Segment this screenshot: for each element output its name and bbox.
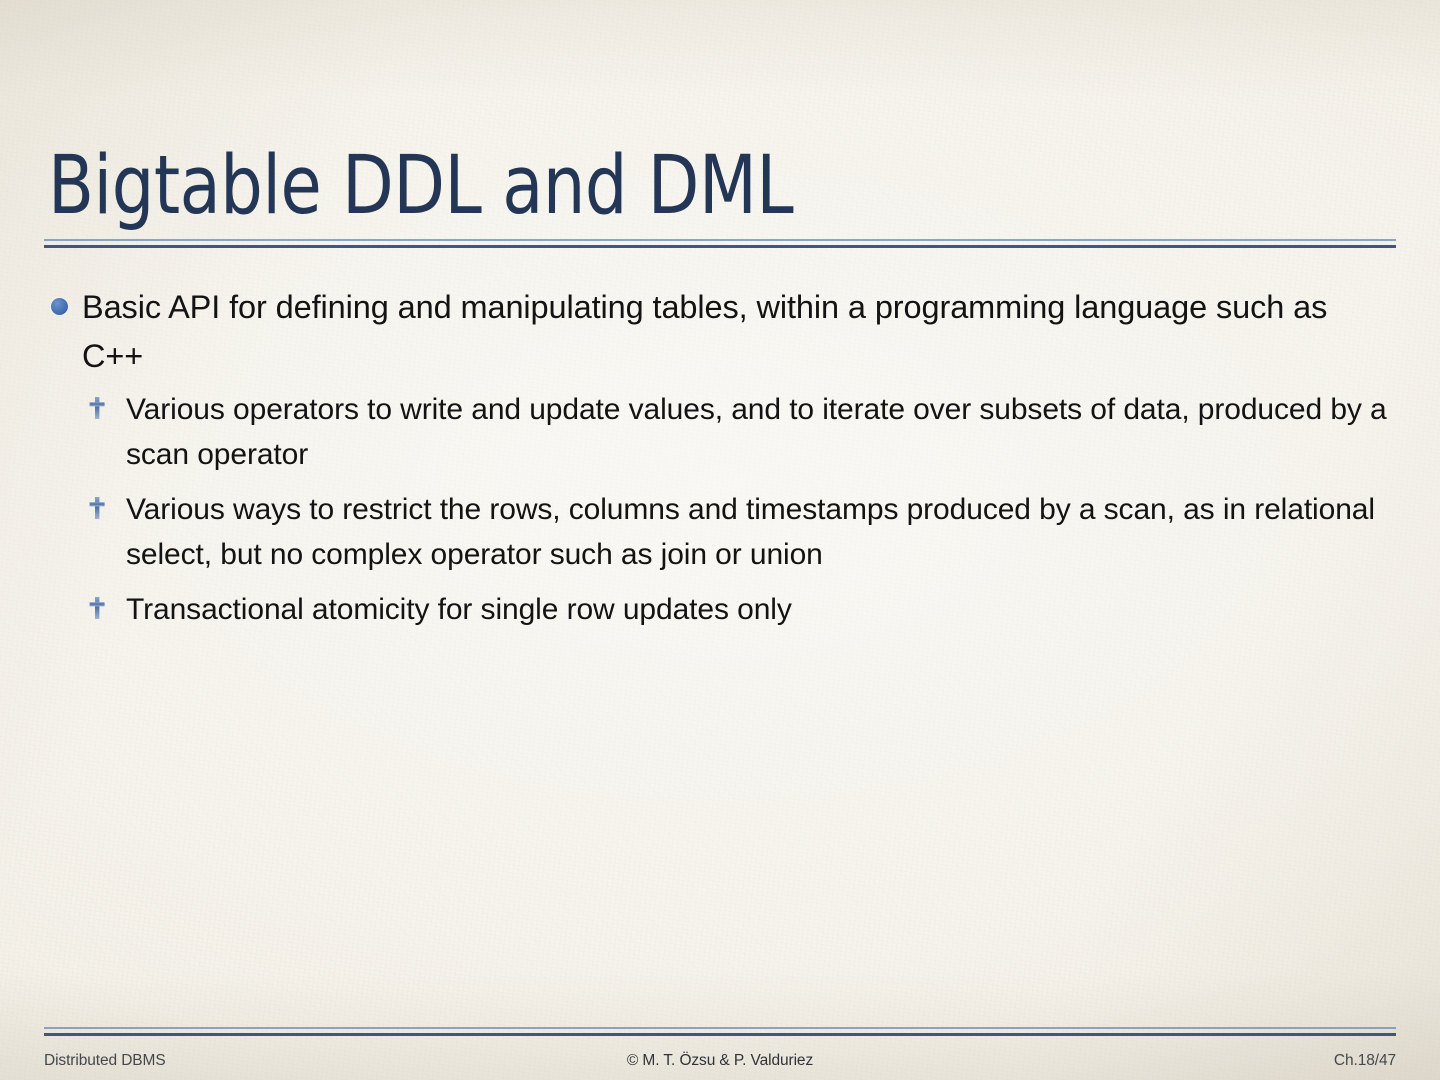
dagger-bullet-icon xyxy=(88,496,106,520)
footer-divider xyxy=(44,1027,1396,1036)
footer-page-number: Ch.18/47 xyxy=(1334,1052,1396,1070)
slide-body: Basic API for defining and manipulating … xyxy=(44,283,1392,642)
divider-line-thick xyxy=(44,1033,1396,1036)
bullet-item-level1: Basic API for defining and manipulating … xyxy=(44,283,1392,381)
bullet-item-level2: Various operators to write and update va… xyxy=(44,387,1392,477)
divider-line-thin xyxy=(44,239,1396,241)
dagger-bullet-icon xyxy=(88,396,106,420)
bullet-text: Various ways to restrict the rows, colum… xyxy=(126,493,1375,571)
bullet-item-level2: Various ways to restrict the rows, colum… xyxy=(44,487,1392,577)
bullet-item-level2: Transactional atomicity for single row u… xyxy=(44,587,1392,632)
divider-line-thin xyxy=(44,1027,1396,1029)
divider-line-thick xyxy=(44,245,1396,248)
dagger-bullet-icon xyxy=(88,596,106,620)
bullet-text: Various operators to write and update va… xyxy=(126,393,1387,471)
page-title: Bigtable DDL and DML xyxy=(48,146,1281,227)
bullet-text: Basic API for defining and manipulating … xyxy=(82,289,1327,374)
footer: Distributed DBMS © M. T. Özsu & P. Valdu… xyxy=(0,1052,1440,1078)
bullet-text: Transactional atomicity for single row u… xyxy=(126,593,792,626)
slide: Bigtable DDL and DML Basic API for defin… xyxy=(0,0,1440,1080)
footer-center-label: © M. T. Özsu & P. Valduriez xyxy=(0,1052,1440,1070)
title-divider xyxy=(44,239,1396,248)
circle-bullet-icon xyxy=(51,298,68,315)
